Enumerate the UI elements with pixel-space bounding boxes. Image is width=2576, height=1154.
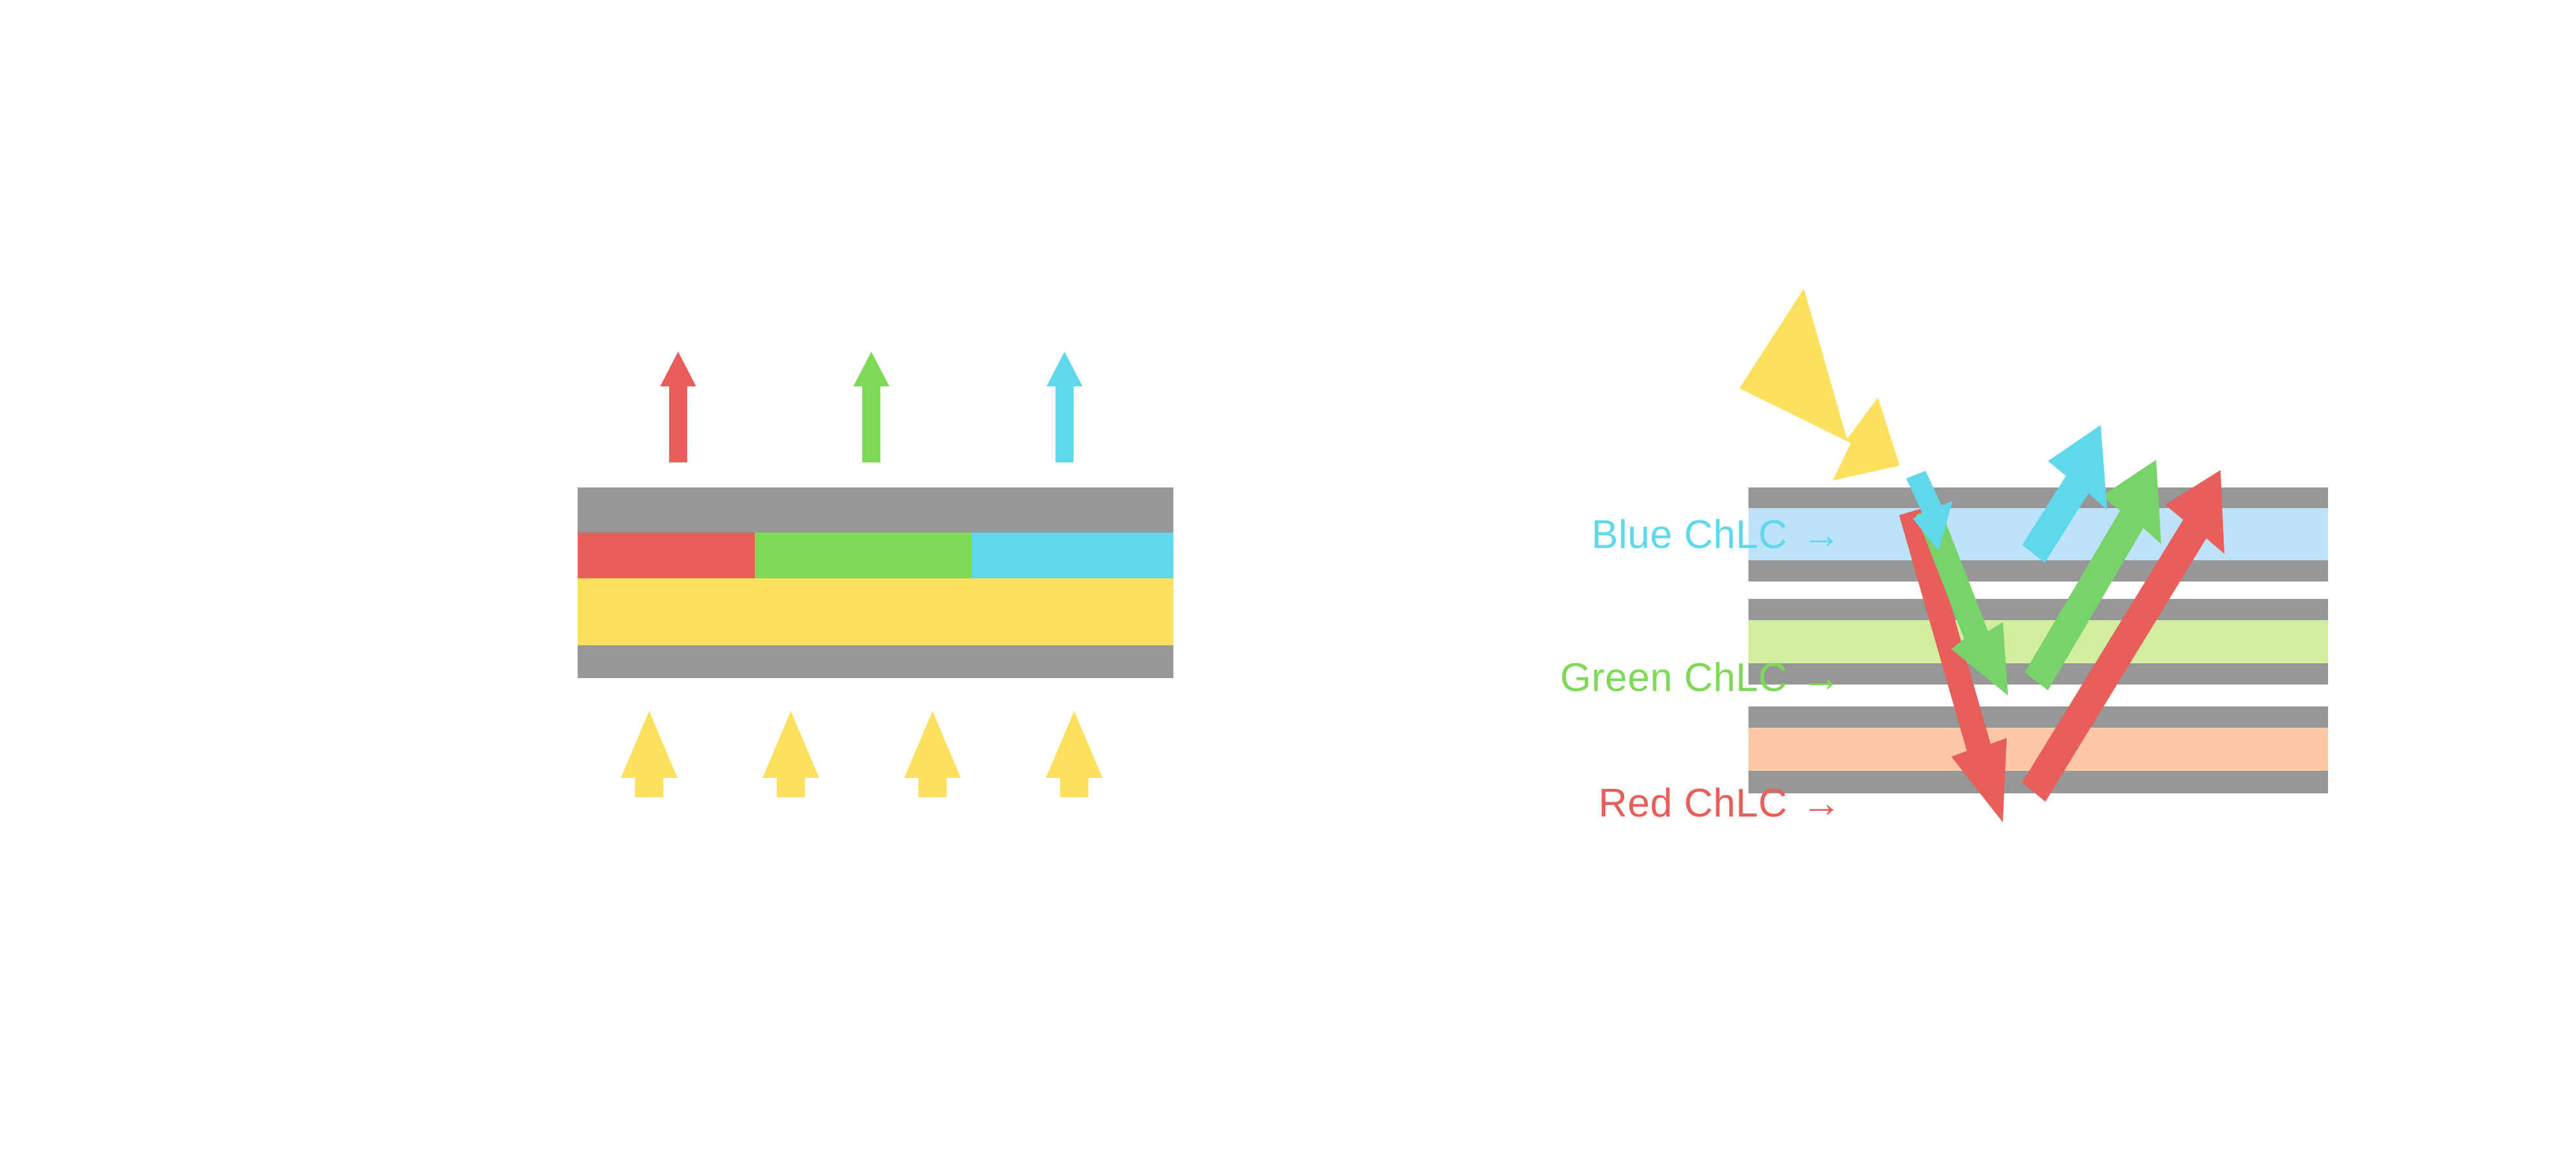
layer-blue-top-electrode	[1748, 487, 2328, 508]
label-red-chlc: Red ChLC→	[1397, 780, 1842, 826]
label-blue-chlc-text: Blue ChLC	[1591, 513, 1787, 557]
backlight-arrow-1	[621, 711, 677, 797]
label-blue-chlc-arrow: →	[1788, 513, 1842, 557]
ambient-light-arrow	[1739, 288, 1900, 480]
emitted-arrow-red	[660, 352, 696, 462]
layer-green-top-electrode	[1748, 599, 2328, 620]
layer-backlight	[578, 578, 1173, 645]
layer-filter-cyan	[971, 533, 1173, 578]
left-panel-svg	[0, 0, 1224, 902]
label-green-chlc-text: Green ChLC	[1560, 656, 1787, 700]
emitted-arrow-green	[853, 352, 889, 462]
diagram-canvas: Blue ChLC→ Green ChLC→ Red ChLC→	[0, 0, 2576, 1154]
layer-blue-bottom-electrode	[1748, 560, 2328, 582]
layer-filter-red	[578, 533, 755, 578]
layer-bottom-electrode	[578, 645, 1173, 678]
layer-red-top-electrode	[1748, 706, 2328, 728]
layer-filter-green	[755, 533, 971, 578]
backlight-arrow-2	[762, 711, 819, 797]
backlight-arrow-3	[904, 711, 961, 797]
layer-top-electrode	[578, 487, 1173, 533]
right-panel-svg	[1320, 0, 2415, 902]
left-panel-emissive-stack	[0, 0, 1224, 902]
label-red-chlc-text: Red ChLC	[1598, 781, 1787, 826]
right-panel-chlc-stack	[1320, 0, 2415, 902]
emitted-arrow-cyan	[1046, 352, 1083, 462]
label-green-chlc-arrow: →	[1788, 656, 1842, 700]
label-blue-chlc: Blue ChLC→	[1397, 512, 1842, 558]
label-red-chlc-arrow: →	[1788, 781, 1842, 826]
backlight-arrow-4	[1046, 711, 1103, 797]
label-green-chlc: Green ChLC→	[1385, 655, 1842, 701]
